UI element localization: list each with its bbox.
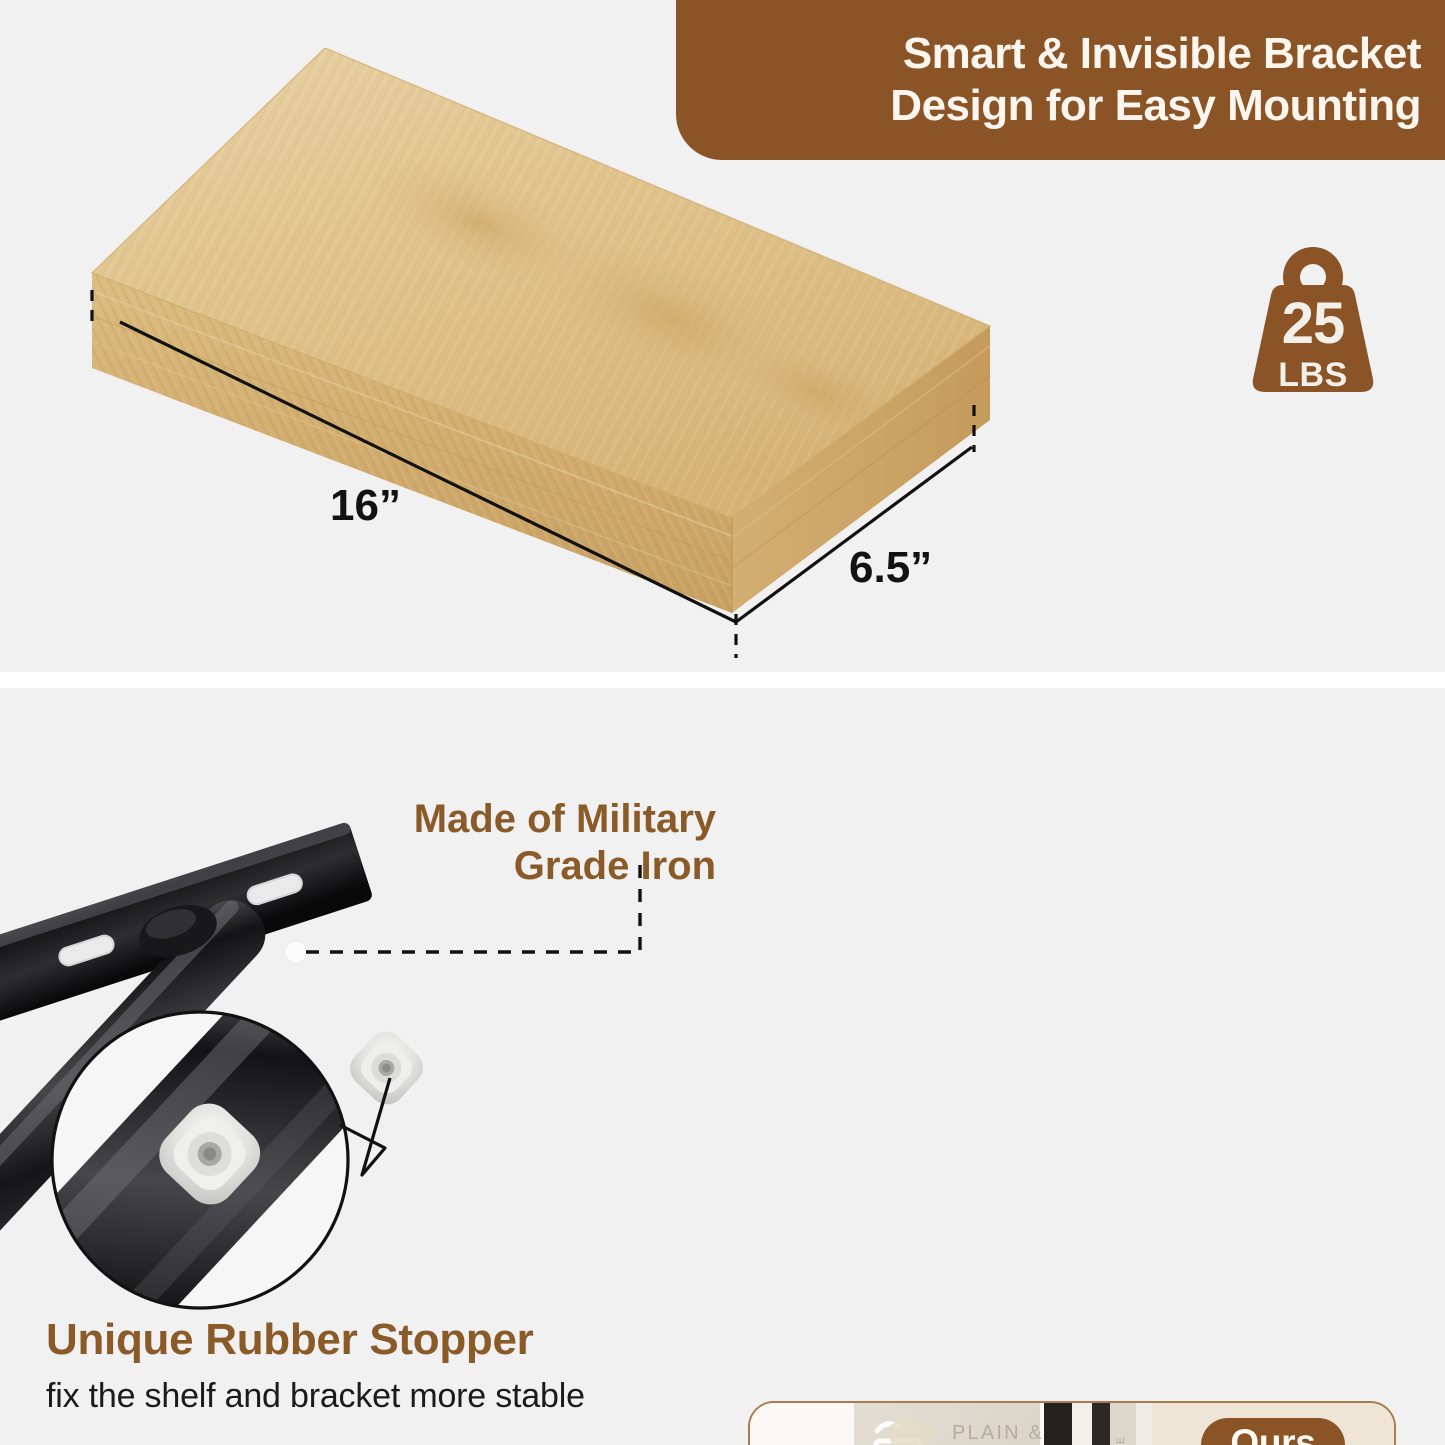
weight-value: 25 (1243, 295, 1383, 353)
ours-pill: Ours (1201, 1418, 1344, 1445)
infographic-canvas: 16” 6.5” Smart & Invisible Bracket Desig… (0, 0, 1445, 1445)
rubber-stopper-title: Unique Rubber Stopper (46, 1316, 533, 1364)
weight-capacity-badge: 25 LBS (1243, 243, 1383, 398)
section-divider (0, 672, 1445, 688)
rubber-stopper-subtitle: fix the shelf and bracket more stable (46, 1376, 585, 1417)
comparison-card-ours: PLAIN & SIMPLE KIM BRENNEMAN NO REST FOR… (748, 1401, 1396, 1445)
ours-photo: PLAIN & SIMPLE KIM BRENNEMAN NO REST FOR… (750, 1403, 1152, 1445)
product-dimension-section: 16” 6.5” Smart & Invisible Bracket Desig… (0, 0, 1445, 672)
dimension-depth-label: 6.5” (849, 543, 932, 593)
military-grade-title: Made of Military Grade Iron (336, 796, 716, 890)
header-line-1: Smart & Invisible Bracket (903, 28, 1421, 80)
ours-text-column: Ours DEEPER & THICKER Create more storag… (1152, 1403, 1394, 1445)
header-banner: Smart & Invisible Bracket Design for Eas… (676, 0, 1445, 160)
header-line-2: Design for Easy Mounting (890, 80, 1421, 132)
weight-text-block: 25 LBS (1243, 295, 1383, 392)
weight-unit: LBS (1243, 358, 1383, 392)
dimension-length-label: 16” (330, 481, 401, 531)
